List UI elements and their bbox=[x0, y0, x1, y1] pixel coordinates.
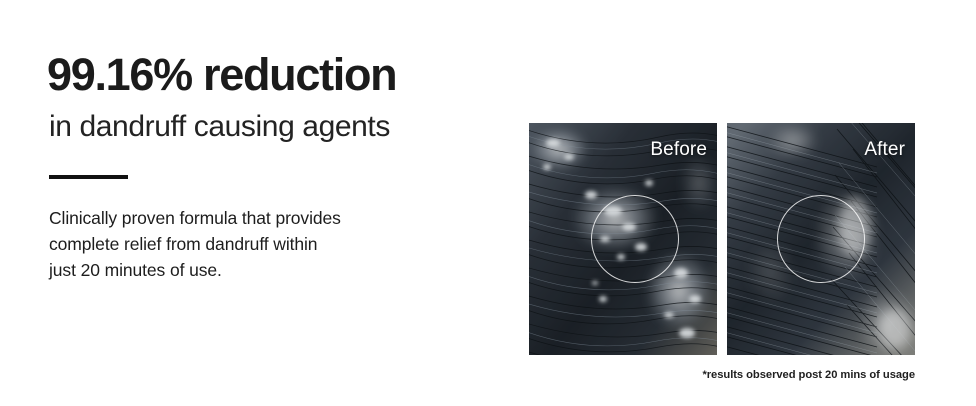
divider bbox=[49, 175, 128, 179]
highlight-circle-icon bbox=[591, 195, 679, 283]
body-copy-line: just 20 minutes of use. bbox=[49, 257, 449, 283]
footnote-disclaimer: *results observed post 20 mins of usage bbox=[529, 369, 915, 381]
body-copy-line: Clinically proven formula that provides bbox=[49, 205, 449, 231]
highlight-circle-icon bbox=[777, 195, 865, 283]
after-panel: After bbox=[727, 123, 915, 355]
before-label: Before bbox=[650, 139, 707, 161]
before-after-comparison: Before bbox=[529, 123, 915, 355]
body-copy: Clinically proven formula that provides … bbox=[49, 205, 449, 283]
body-copy-line: complete relief from dandruff within bbox=[49, 231, 449, 257]
subtitle: in dandruff causing agents bbox=[49, 110, 390, 145]
page-title: 99.16% reduction bbox=[47, 52, 396, 97]
before-panel: Before bbox=[529, 123, 717, 355]
promo-banner: 99.16% reduction in dandruff causing age… bbox=[0, 0, 976, 406]
after-label: After bbox=[864, 139, 905, 161]
